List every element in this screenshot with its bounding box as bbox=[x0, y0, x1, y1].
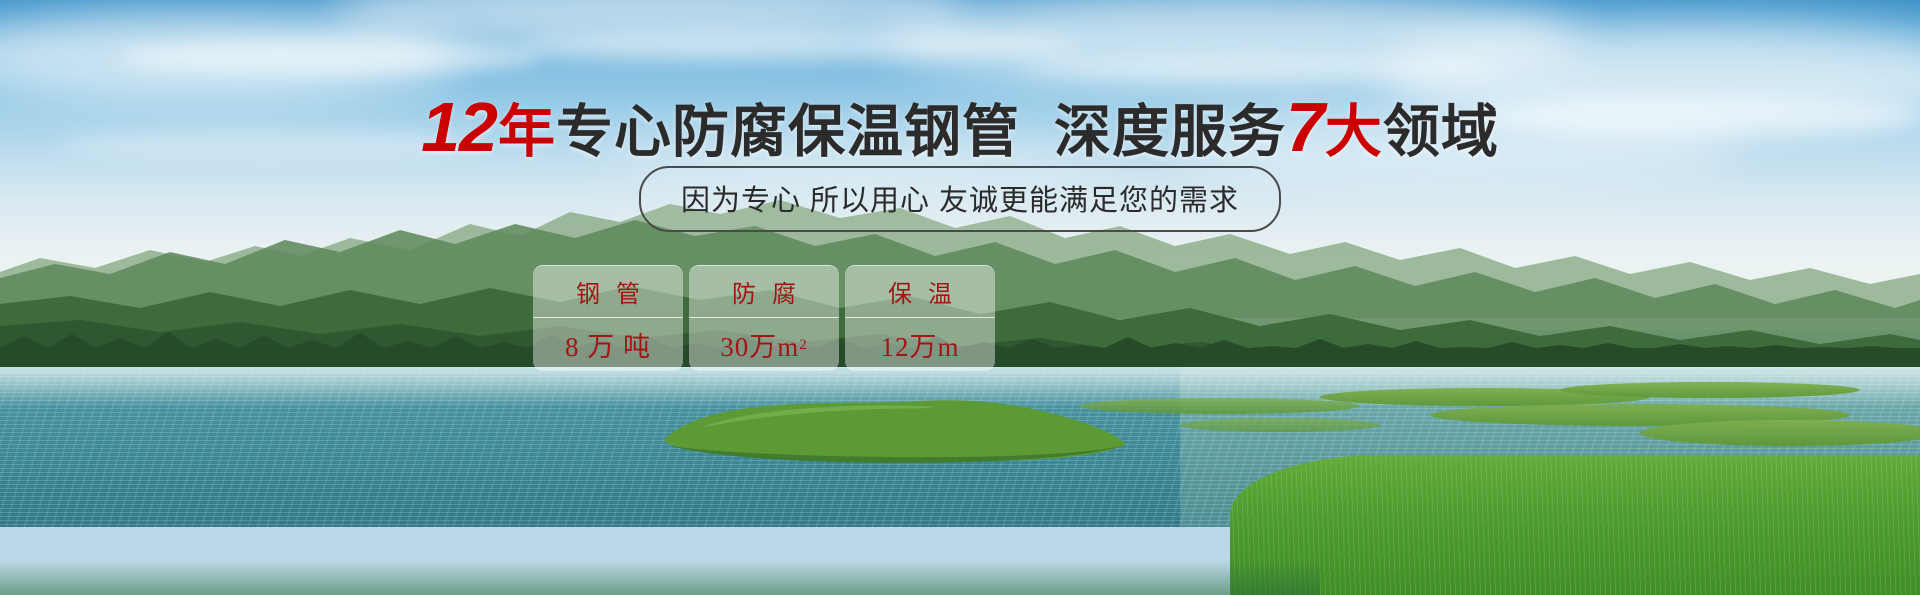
banner-subtitle-wrap: 因为专心 所以用心 友诚更能满足您的需求 bbox=[0, 166, 1920, 232]
stat-card-value-text: 12万m bbox=[880, 325, 959, 364]
stat-card-value: 12万m bbox=[845, 318, 995, 371]
banner-content: 12年专心防腐保温钢管深度服务7大领域 因为专心 所以用心 友诚更能满足您的需求… bbox=[0, 0, 1920, 595]
stats-card-group: 钢 管 8 万 吨 防 腐 30万m2 保 温 12万m bbox=[533, 265, 995, 371]
stat-card-value: 8 万 吨 bbox=[533, 318, 683, 371]
headline-fields-da: 大 bbox=[1325, 100, 1383, 164]
stat-card-value: 30万m2 bbox=[689, 318, 839, 371]
stat-card-label: 保 温 bbox=[845, 266, 995, 317]
banner-subtitle: 因为专心 所以用心 友诚更能满足您的需求 bbox=[639, 166, 1281, 232]
stat-card-value-text: 30万m bbox=[720, 325, 799, 364]
banner-headline: 12年专心防腐保温钢管深度服务7大领域 bbox=[0, 86, 1920, 168]
headline-fields-number: 7 bbox=[1286, 88, 1324, 166]
stat-card: 钢 管 8 万 吨 bbox=[533, 265, 683, 371]
stat-card-label: 钢 管 bbox=[533, 266, 683, 317]
headline-years-unit: 年 bbox=[498, 100, 556, 164]
stat-card: 保 温 12万m bbox=[845, 265, 995, 371]
hero-banner: 12年专心防腐保温钢管深度服务7大领域 因为专心 所以用心 友诚更能满足您的需求… bbox=[0, 0, 1920, 595]
stat-card: 防 腐 30万m2 bbox=[689, 265, 839, 371]
headline-fields-text: 领域 bbox=[1383, 100, 1499, 164]
stat-card-value-text: 8 万 吨 bbox=[565, 325, 651, 364]
headline-service-text: 深度服务 bbox=[1054, 100, 1286, 164]
stat-card-label: 防 腐 bbox=[689, 266, 839, 317]
headline-main-text: 专心防腐保温钢管 bbox=[556, 100, 1020, 164]
headline-years-number: 12 bbox=[421, 88, 497, 166]
